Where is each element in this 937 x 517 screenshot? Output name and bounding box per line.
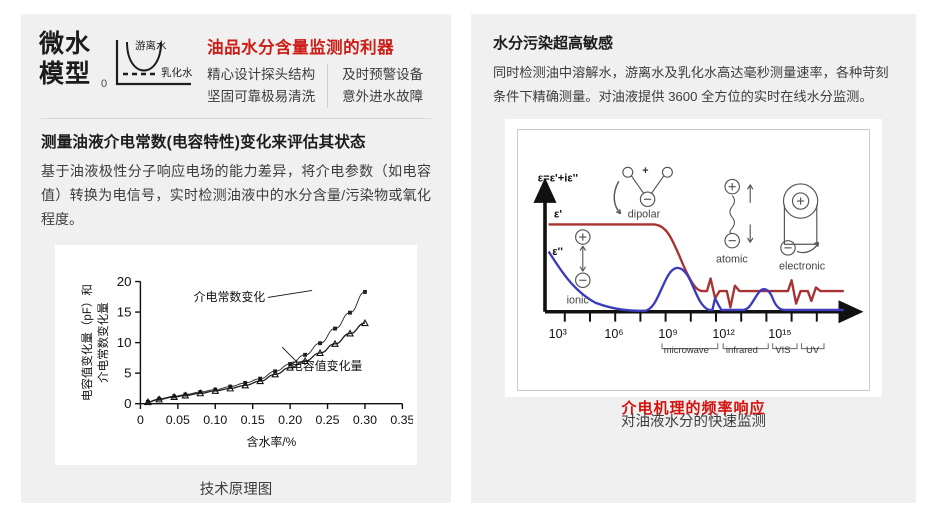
- x-tick-label: 0: [137, 413, 144, 427]
- label-atomic: atomic: [716, 253, 748, 265]
- label-electronic: electronic: [779, 260, 826, 272]
- x-tick-label: 0.30: [353, 413, 377, 427]
- y-axis-title: 介电常数变化量: [96, 302, 110, 383]
- x-tick-label: 0.20: [278, 413, 302, 427]
- series-label-dielectric: 介电常数变化: [194, 289, 266, 304]
- x-tick-label: 10¹²: [712, 326, 734, 340]
- chart-data-point: [348, 311, 352, 315]
- headline: 油品水分含量监测的利器: [207, 34, 433, 58]
- feature-item: 精心设计探头结构: [207, 64, 315, 86]
- band-label: UV: [806, 345, 820, 356]
- right-caption: 对油液水分的快速监测: [491, 410, 896, 431]
- band-label: VIS: [775, 345, 790, 356]
- dielectric-mechanism-figure: ε=ε'+iε'' ε' ε'' ionic: [518, 130, 869, 390]
- right-section-title: 水分污染超高敏感: [493, 32, 896, 53]
- feature-item: 及时预警设备: [342, 64, 423, 86]
- eps-real-label: ε': [554, 208, 562, 220]
- x-tick-label: 0.15: [241, 413, 265, 427]
- x-axis-title: 含水率/%: [247, 434, 297, 449]
- left-panel: 微水 模型 0 游离水 乳化水 油品水分含量监测的利器 精心设计探头结构: [21, 14, 451, 503]
- diagram-origin-label: 0: [101, 78, 109, 92]
- band-labels: microwave infrared VIS UV: [664, 345, 820, 356]
- right-panel: 水分污染超高敏感 同时检测油中溶解水，游离水及乳化水高达毫秒测量速率，各种苛刻条…: [471, 14, 916, 503]
- annotation-leader-line: [268, 290, 312, 297]
- capacitance-dielectric-chart: 0510152000.050.100.150.200.250.300.35介电常…: [59, 251, 413, 459]
- header-divider: [41, 118, 431, 119]
- chart-data-point: [303, 353, 307, 357]
- x-tick-label: 0.25: [315, 413, 339, 427]
- chart-data-point: [318, 341, 322, 345]
- feature-item: 意外进水故障: [342, 86, 423, 108]
- y-tick-label: 20: [117, 274, 132, 289]
- technical-chart-card: 0510152000.050.100.150.200.250.300.35介电常…: [55, 245, 417, 465]
- left-section-body: 基于油液极性分子响应电场的能力差异，将介电参数（如电容值）转换为电信号，实时检测…: [41, 159, 431, 231]
- left-caption: 技术原理图: [39, 478, 433, 499]
- x-tick-label: 10¹⁵: [768, 326, 791, 340]
- left-header: 微水 模型 0 游离水 乳化水 油品水分含量监测的利器 精心设计探头结构: [39, 30, 433, 108]
- diagram-label-top: 游离水: [135, 39, 167, 52]
- chart-axes: [140, 281, 402, 403]
- y-tick-label: 10: [117, 335, 132, 350]
- feature-grid: 精心设计探头结构 坚固可靠极易清洗 及时预警设备 意外进水故障: [205, 64, 433, 108]
- left-section-title: 测量油液介电常数(电容特性)变化来评估其状态: [41, 130, 433, 152]
- label-ionic: ionic: [567, 294, 590, 306]
- plus-sign: +: [642, 165, 648, 177]
- header-text-block: 油品水分含量监测的利器 精心设计探头结构 坚固可靠极易清洗 及时预警设备 意外进…: [205, 30, 433, 108]
- eps-imag-label: ε'': [552, 246, 563, 258]
- y-tick-label: 5: [124, 366, 131, 381]
- brand-line-1: 微水: [39, 30, 91, 60]
- feature-column-1: 精心设计探头结构 坚固可靠极易清洗: [205, 64, 327, 108]
- x-tick-labels: 10³ 10⁶ 10⁹ 10¹² 10¹⁵: [549, 326, 792, 340]
- y-axis-title: 电容值变化量（pF）和: [80, 284, 94, 401]
- band-label: microwave: [664, 345, 709, 356]
- dielectric-spectrum-card: ε=ε'+iε'' ε' ε'' ionic: [505, 119, 882, 397]
- feature-column-2: 及时预警设备 意外进水故障: [327, 64, 423, 108]
- label-dipolar: dipolar: [628, 208, 661, 220]
- chart-data-point: [333, 327, 337, 331]
- water-model-diagram: 0 游离水 乳化水: [101, 30, 195, 92]
- y-tick-label: 15: [117, 304, 132, 319]
- band-label: infrared: [726, 345, 758, 356]
- x-tick-label: 0.10: [203, 413, 227, 427]
- x-tick-label: 0.05: [166, 413, 190, 427]
- x-tick-label: 10⁹: [658, 326, 677, 340]
- electronic-mechanism-icon: [781, 183, 819, 254]
- x-tick-label: 0.35: [390, 413, 413, 427]
- brand-line-2: 模型: [39, 60, 91, 90]
- parabola-diagram-icon: 游离水 乳化水: [109, 36, 195, 92]
- equation-label: ε=ε'+iε'': [538, 172, 579, 184]
- series-label-capacitance: 电容值变化量: [291, 358, 363, 373]
- annotation-leader-line: [282, 347, 296, 361]
- page-root: 微水 模型 0 游离水 乳化水 油品水分含量监测的利器 精心设计探头结构: [0, 0, 937, 517]
- atomic-mechanism-icon: [725, 179, 753, 247]
- right-section-body: 同时检测油中溶解水，游离水及乳化水高达毫秒测量速率，各种苛刻条件下精确测量。对油…: [493, 61, 894, 109]
- chart-series-line: [148, 292, 365, 402]
- feature-item: 坚固可靠极易清洗: [207, 86, 315, 108]
- ionic-mechanism-icon: [576, 229, 590, 287]
- x-tick-label: 10³: [549, 326, 567, 340]
- brand-title: 微水 模型: [39, 30, 91, 89]
- y-tick-label: 0: [124, 396, 131, 411]
- dielectric-figure-frame: ε=ε'+iε'' ε' ε'' ionic: [517, 129, 870, 391]
- diagram-label-bottom: 乳化水: [161, 66, 193, 79]
- chart-data-point: [363, 290, 367, 294]
- x-tick-label: 10⁶: [604, 326, 623, 340]
